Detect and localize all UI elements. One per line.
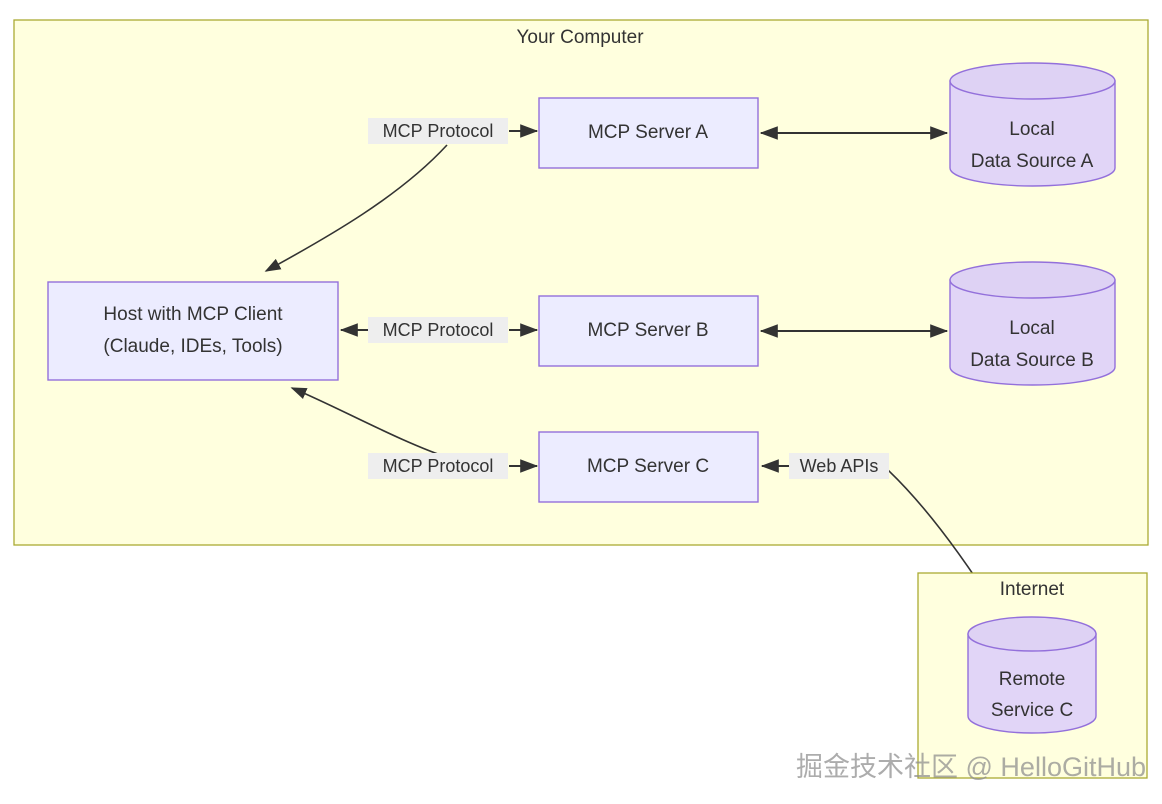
edge-label-mcp-protocol-b-text: MCP Protocol — [383, 320, 494, 340]
node-local-data-source-a[interactable]: Local Data Source A — [950, 63, 1115, 186]
edge-label-web-apis: Web APIs — [789, 453, 889, 479]
node-remote-service-c-label-line-2: Service C — [991, 700, 1073, 721]
node-host-label-line-2: (Claude, IDEs, Tools) — [103, 336, 282, 357]
node-host-label-line-1: Host with MCP Client — [103, 304, 283, 325]
node-mcp-server-a-label: MCP Server A — [588, 122, 708, 143]
node-mcp-server-b-label: MCP Server B — [587, 320, 708, 341]
node-host[interactable]: Host with MCP Client (Claude, IDEs, Tool… — [48, 282, 338, 380]
watermark-label: 掘金技术社区 @ HelloGitHub — [796, 752, 1146, 782]
edge-label-mcp-protocol-c: MCP Protocol — [368, 453, 508, 479]
group-your-computer-label: Your Computer — [516, 27, 644, 48]
node-mcp-server-c-label: MCP Server C — [587, 456, 709, 477]
node-remote-service-c[interactable]: Remote Service C — [968, 617, 1096, 733]
edge-label-mcp-protocol-b: MCP Protocol — [368, 317, 508, 343]
edge-label-mcp-protocol-a: MCP Protocol — [368, 118, 508, 144]
edge-label-mcp-protocol-c-text: MCP Protocol — [383, 456, 494, 476]
edge-label-web-apis-text: Web APIs — [800, 456, 879, 476]
node-local-data-source-a-top — [950, 63, 1115, 99]
node-local-data-source-a-label-line-2: Data Source A — [971, 151, 1094, 172]
diagram-svg: Your Computer Host with MCP Client (Clau… — [0, 0, 1162, 804]
node-host-box[interactable] — [48, 282, 338, 380]
node-local-data-source-b[interactable]: Local Data Source B — [950, 262, 1115, 385]
node-remote-service-c-top — [968, 617, 1096, 651]
node-mcp-server-c[interactable]: MCP Server C — [539, 432, 758, 502]
edge-label-mcp-protocol-a-text: MCP Protocol — [383, 121, 494, 141]
node-local-data-source-b-label-line-1: Local — [1009, 318, 1054, 339]
diagram-canvas: Your Computer Host with MCP Client (Clau… — [0, 0, 1162, 804]
node-remote-service-c-label-line-1: Remote — [999, 669, 1066, 690]
group-internet-label: Internet — [1000, 579, 1065, 600]
node-mcp-server-a[interactable]: MCP Server A — [539, 98, 758, 168]
node-local-data-source-a-label-line-1: Local — [1009, 119, 1054, 140]
node-local-data-source-b-label-line-2: Data Source B — [970, 350, 1094, 371]
node-local-data-source-b-top — [950, 262, 1115, 298]
node-mcp-server-b[interactable]: MCP Server B — [539, 296, 758, 366]
